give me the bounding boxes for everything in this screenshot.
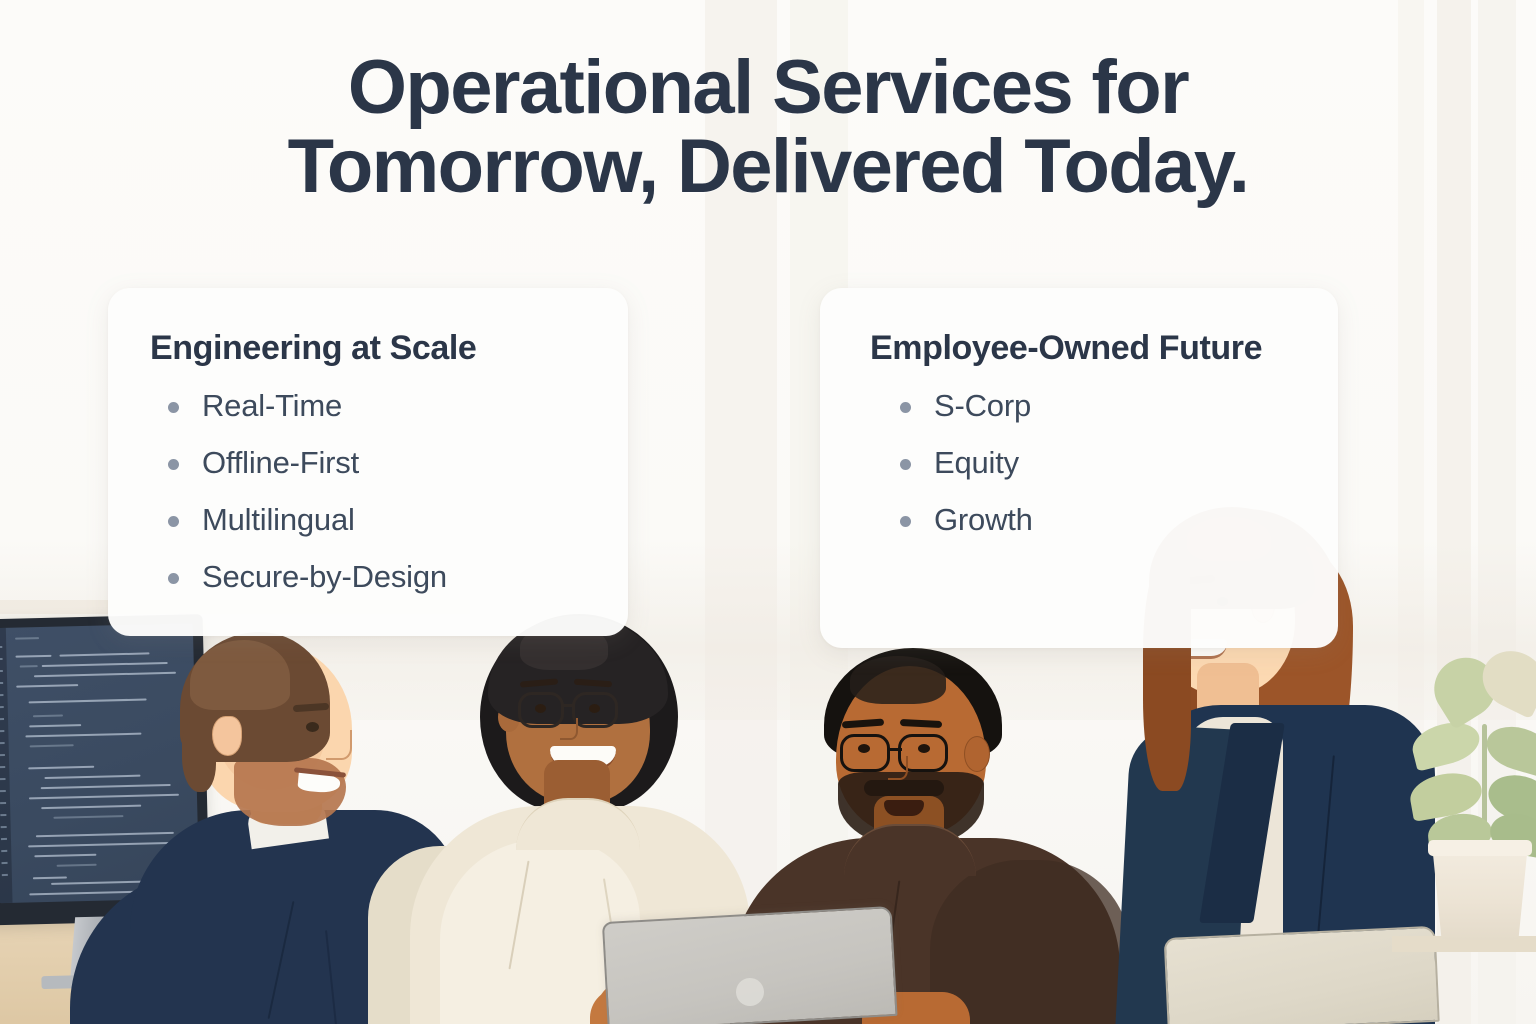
list-item-label: Real-Time [202, 388, 342, 423]
list-item: Equity [894, 447, 1338, 504]
feature-list: S-Corp Equity Growth [870, 390, 1338, 561]
list-item-label: S-Corp [934, 388, 1031, 423]
card-title: Engineering at Scale [150, 328, 628, 368]
list-item: S-Corp [894, 390, 1338, 447]
plant-pot [1432, 844, 1528, 940]
list-item: Secure-by-Design [162, 561, 628, 618]
potted-plant [1398, 608, 1536, 1024]
bullet-icon [168, 516, 179, 527]
list-item-label: Multilingual [202, 502, 355, 537]
bullet-icon [168, 573, 179, 584]
bullet-icon [168, 459, 179, 470]
card-engineering-at-scale: Engineering at Scale Real-Time Offline-F… [108, 288, 628, 636]
list-item-label: Offline-First [202, 445, 359, 480]
list-item: Multilingual [162, 504, 628, 561]
bullet-icon [900, 402, 911, 413]
laptop-center [602, 906, 898, 1024]
card-title: Employee-Owned Future [870, 328, 1270, 368]
laptop-logo-icon [735, 977, 765, 1007]
list-item: Offline-First [162, 447, 628, 504]
line-number-gutter [0, 628, 13, 903]
bullet-icon [900, 459, 911, 470]
bullet-icon [900, 516, 911, 527]
beard [234, 758, 346, 826]
list-item-label: Equity [934, 445, 1019, 480]
card-employee-owned-future: Employee-Owned Future S-Corp Equity Grow… [820, 288, 1338, 648]
list-item: Real-Time [162, 390, 628, 447]
glasses-icon [840, 734, 890, 772]
list-item-label: Growth [934, 502, 1033, 537]
list-item-label: Secure-by-Design [202, 559, 447, 594]
feature-list: Real-Time Offline-First Multilingual Sec… [150, 390, 628, 618]
list-item: Growth [894, 504, 1338, 561]
bullet-icon [168, 402, 179, 413]
